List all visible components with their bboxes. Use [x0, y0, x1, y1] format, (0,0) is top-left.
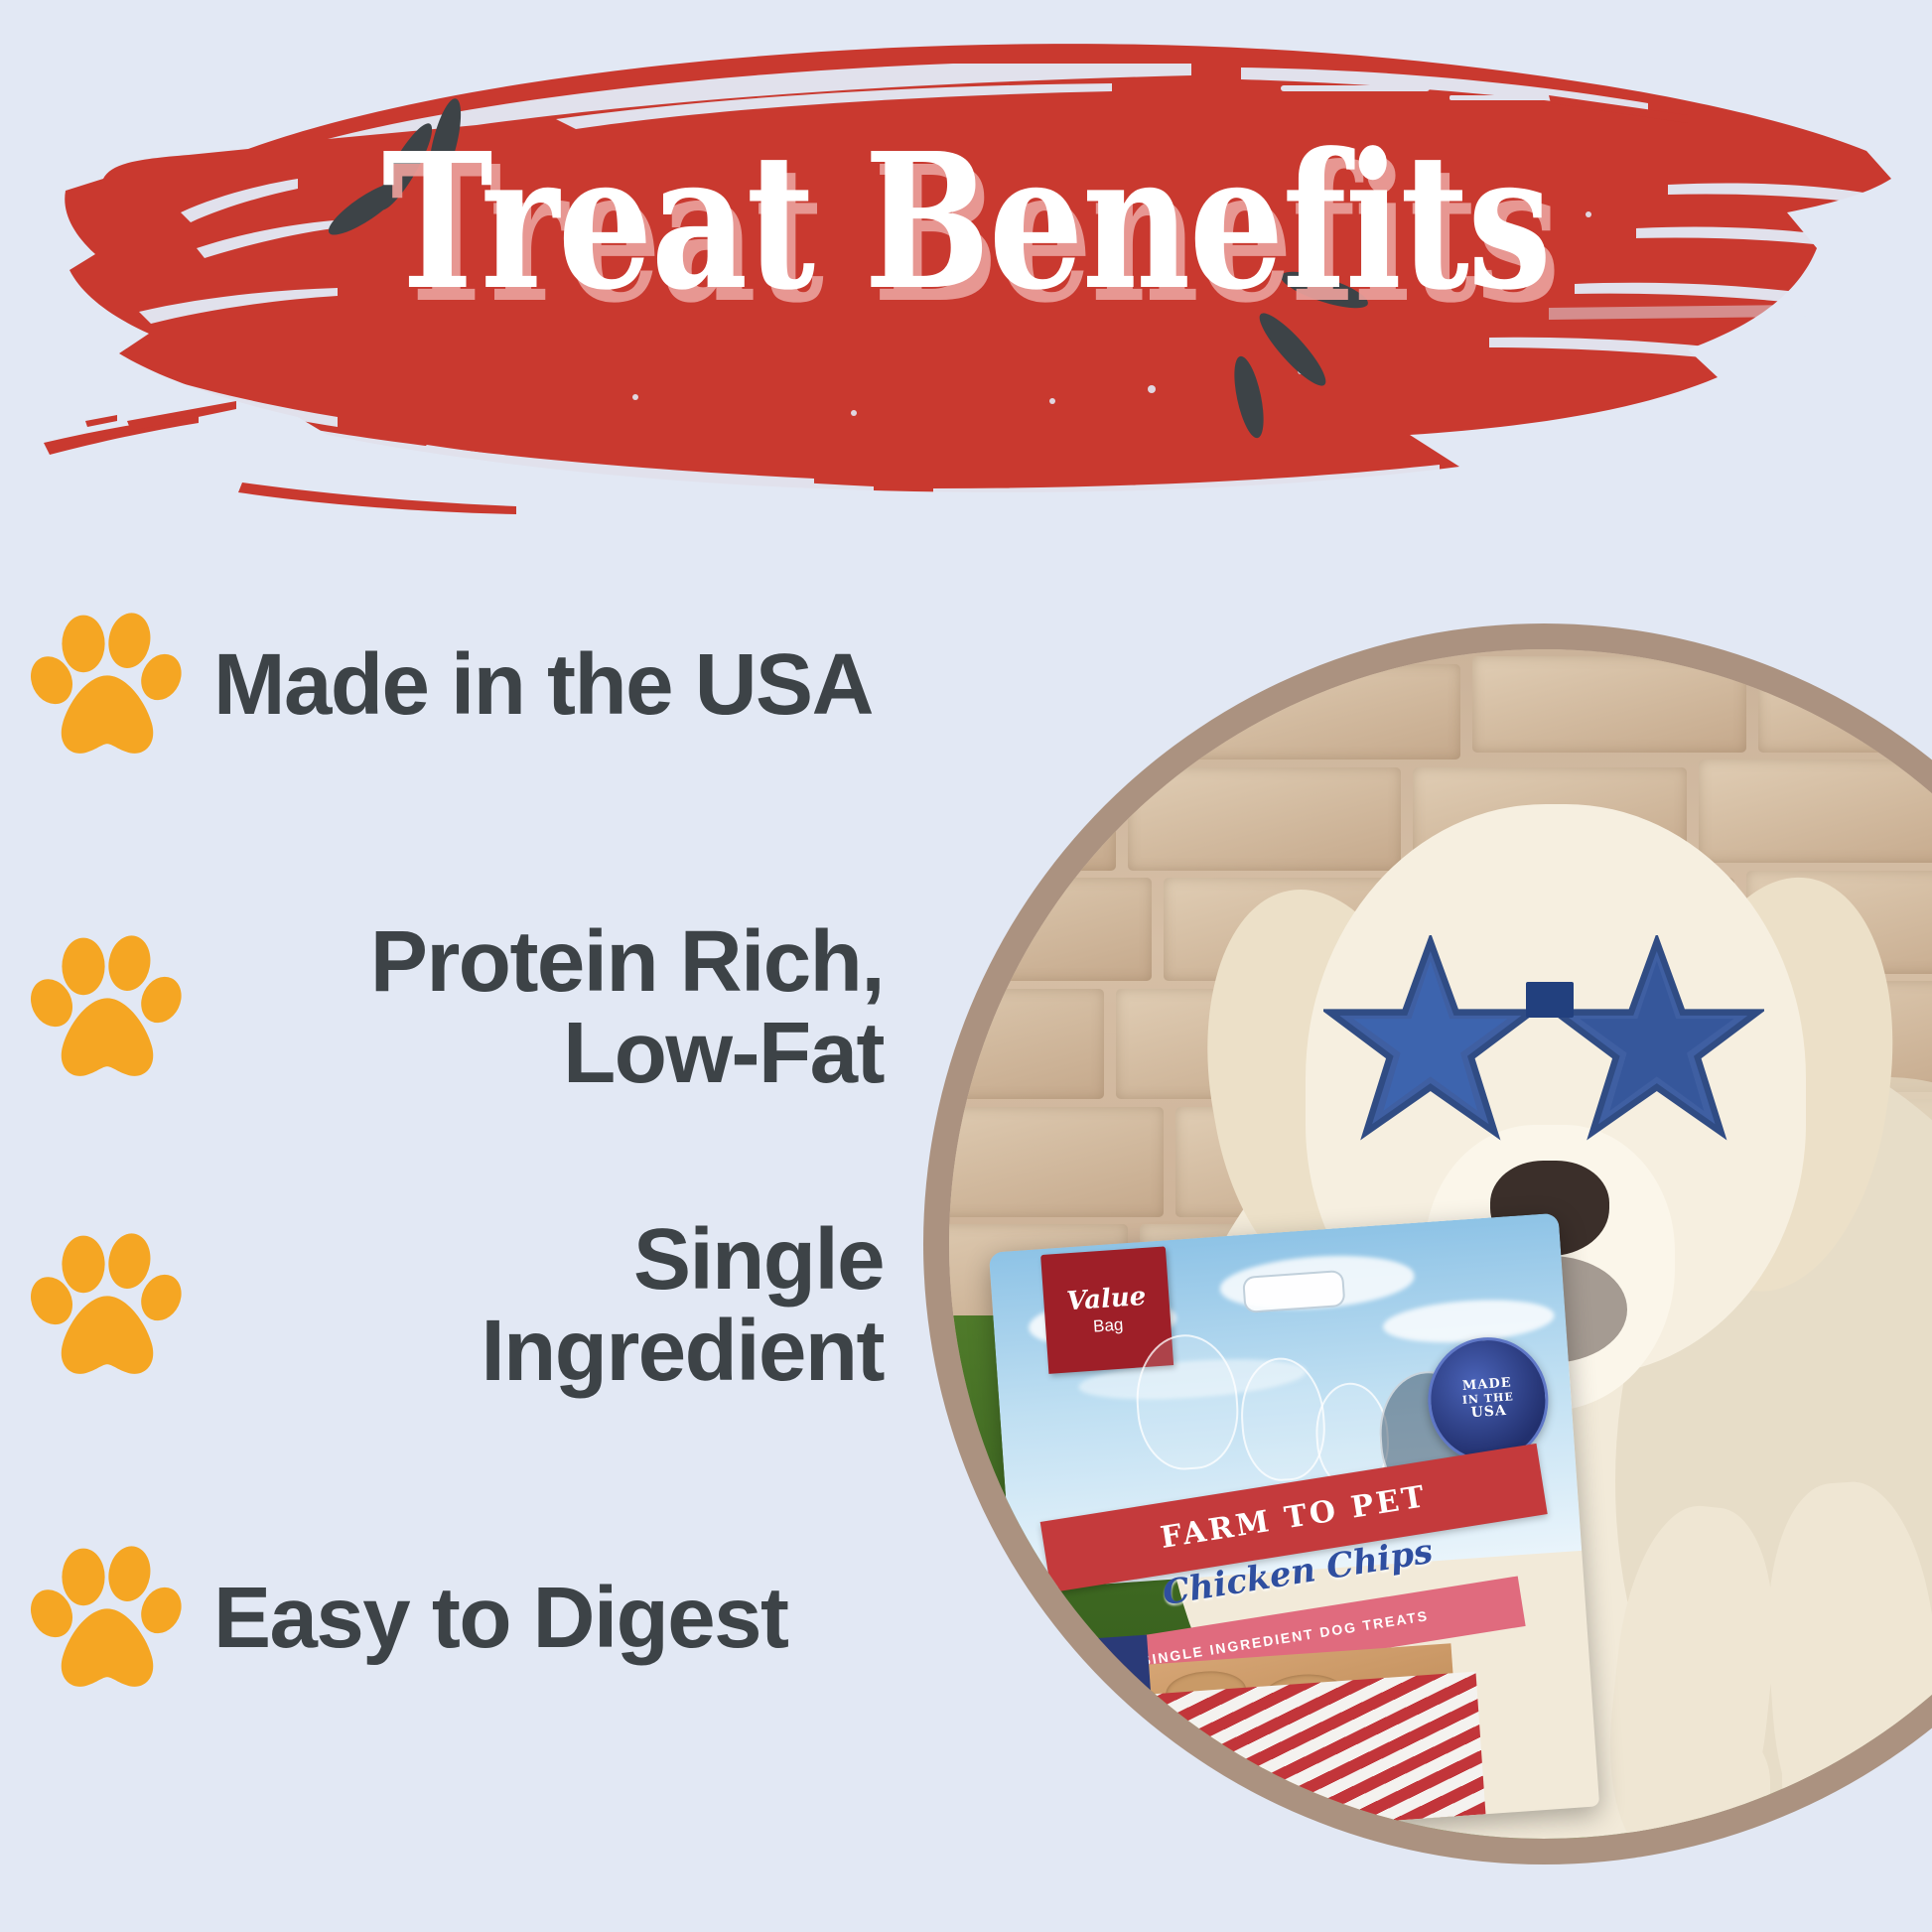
benefit-label-line-2: Low-Fat	[213, 1008, 884, 1099]
photo-scene: Value Bag MADE IN THE USA	[949, 649, 1932, 1839]
star-sunglasses-right-icon	[1550, 935, 1764, 1150]
paw-icon-wrap	[0, 928, 213, 1087]
value-tag-line-2: Bag	[1092, 1314, 1124, 1336]
benefit-label-lines: Single Ingredient	[213, 1214, 1003, 1397]
benefit-label: Easy to Digest	[213, 1573, 1003, 1664]
benefit-item-easy-to-digest[interactable]: Easy to Digest	[0, 1519, 1003, 1718]
benefit-label: Made in the USA	[213, 639, 1003, 731]
dog-paw-front-right	[1782, 1696, 1932, 1839]
paw-icon	[28, 928, 187, 1087]
benefit-label-line-1: Single	[213, 1214, 884, 1306]
paw-icon	[28, 1226, 187, 1385]
paw-icon-wrap	[0, 1226, 213, 1385]
paw-icon-wrap	[0, 606, 213, 764]
star-sunglasses-left-icon	[1323, 935, 1538, 1150]
sunglasses-bridge	[1526, 982, 1574, 1018]
header-banner: Treat Benefits	[0, 0, 1932, 526]
infographic-canvas: Treat Benefits Made in the USA	[0, 0, 1932, 1932]
product-photo[interactable]: Value Bag MADE IN THE USA	[923, 623, 1932, 1864]
bag-hang-hole	[1242, 1270, 1345, 1313]
benefit-label-line-2: Ingredient	[213, 1306, 884, 1397]
photo-clip: Value Bag MADE IN THE USA	[949, 649, 1932, 1839]
benefit-item-single-ingredient[interactable]: Single Ingredient	[0, 1181, 1003, 1430]
dog-paw-front-left	[1627, 1720, 1770, 1839]
flag-stripes	[1134, 1672, 1485, 1838]
benefits-list: Made in the USA Protein Rich, Low-Fat	[0, 556, 1003, 1932]
benefit-item-protein-rich[interactable]: Protein Rich, Low-Fat	[0, 884, 1003, 1132]
benefit-item-made-in-usa[interactable]: Made in the USA	[0, 586, 1003, 784]
sparkle-marks-right-icon	[1201, 240, 1420, 459]
value-tag-line-1: Value	[1065, 1282, 1147, 1317]
product-bag: Value Bag MADE IN THE USA	[989, 1213, 1599, 1839]
brush-stroke-shape	[0, 0, 1932, 526]
benefit-label-line-1: Protein Rich,	[213, 916, 884, 1008]
benefit-label-lines: Protein Rich, Low-Fat	[213, 916, 1003, 1099]
paw-icon-wrap	[0, 1539, 213, 1698]
paw-icon	[28, 1539, 187, 1698]
badge-line-3: USA	[1470, 1404, 1507, 1422]
sparkle-marks-left-icon	[328, 91, 526, 290]
paw-icon	[28, 606, 187, 764]
